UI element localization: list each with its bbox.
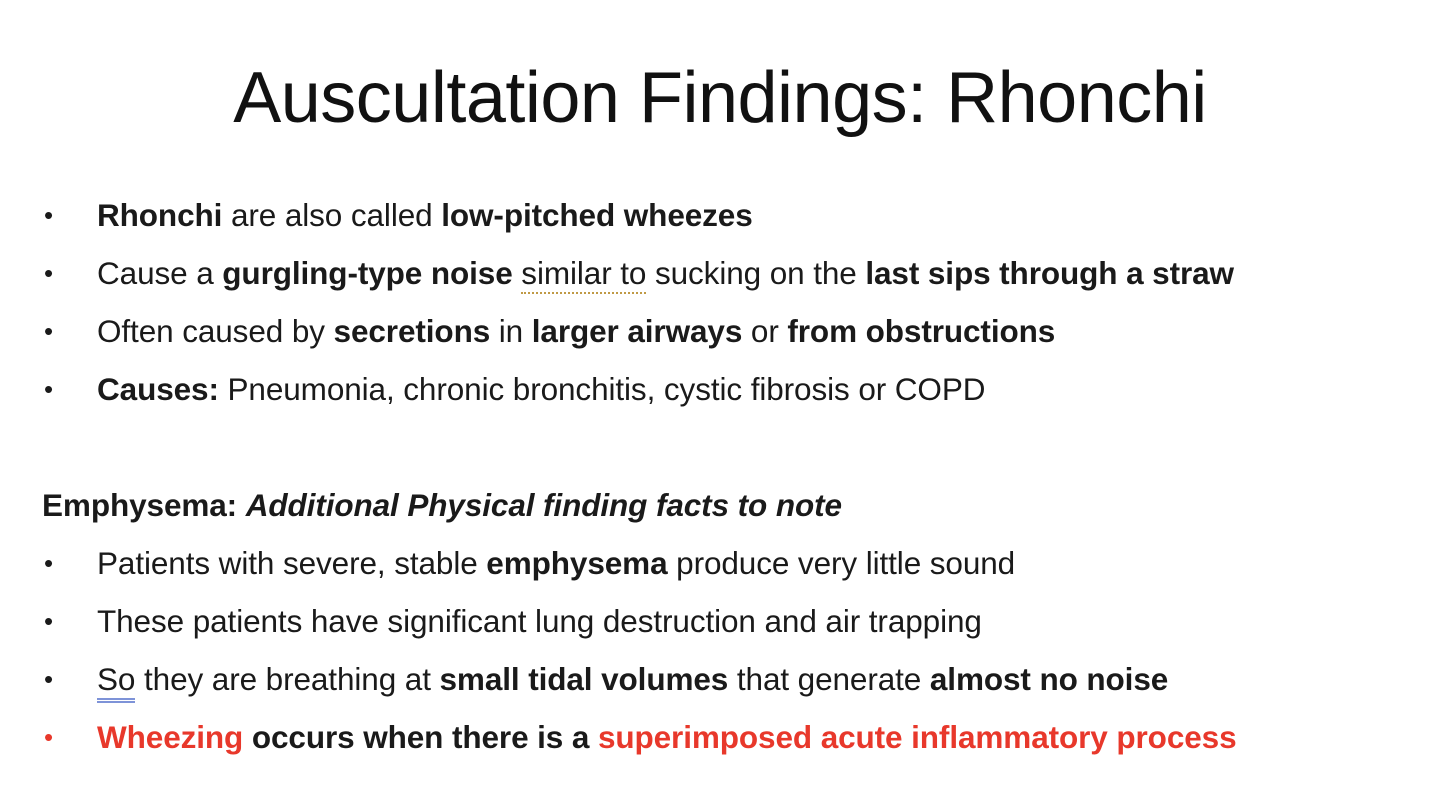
text-run: produce very little sound — [668, 545, 1016, 581]
bullet-marker: • — [44, 592, 58, 650]
slide-body: •Rhonchi are also called low-pitched whe… — [38, 186, 1418, 766]
text-run: gurgling-type noise — [222, 255, 512, 291]
slide-title: Auscultation Findings: Rhonchi — [0, 56, 1440, 141]
bullet-marker: • — [44, 302, 58, 360]
bullet-line: •These patients have significant lung de… — [38, 592, 1418, 650]
bullet-marker: • — [44, 244, 58, 302]
bullet-line: •Cause a gurgling-type noise similar to … — [38, 244, 1418, 302]
proofing-marked-text[interactable]: similar to — [521, 255, 646, 294]
bullet-marker: • — [44, 360, 58, 418]
bullet-line: •Causes: Pneumonia, chronic bronchitis, … — [38, 360, 1418, 418]
proofing-marked-text[interactable]: So — [97, 661, 135, 700]
blank-line — [38, 418, 1418, 476]
text-run: Causes: — [97, 371, 219, 407]
bullet-line: •Often caused by secretions in larger ai… — [38, 302, 1418, 360]
text-run: almost no noise — [930, 661, 1168, 697]
text-run: last sips through a straw — [865, 255, 1234, 291]
text-run: Additional Physical finding facts to not… — [246, 487, 842, 523]
bullet-marker: • — [44, 186, 58, 244]
bullet-line: •Rhonchi are also called low-pitched whe… — [38, 186, 1418, 244]
text-run: are also called — [222, 197, 441, 233]
text-run: sucking on the — [646, 255, 865, 291]
bullet-marker: • — [44, 650, 58, 708]
text-run: larger airways — [532, 313, 743, 349]
text-run: from obstructions — [787, 313, 1055, 349]
bullet-marker: • — [44, 708, 58, 766]
text-run: Often caused by — [97, 313, 334, 349]
text-run: Rhonchi — [97, 197, 222, 233]
text-run: occurs when there is a — [243, 719, 598, 755]
text-run: secretions — [334, 313, 491, 349]
bullet-line: •Patients with severe, stable emphysema … — [38, 534, 1418, 592]
text-run: emphysema — [486, 545, 667, 581]
slide-canvas: Auscultation Findings: Rhonchi •Rhonchi … — [0, 0, 1440, 800]
bullet-line: •So they are breathing at small tidal vo… — [38, 650, 1418, 708]
text-run: Patients with severe, stable — [97, 545, 486, 581]
bullet-marker: • — [44, 534, 58, 592]
text-run: low-pitched wheezes — [441, 197, 752, 233]
text-run: Pneumonia, chronic bronchitis, cystic fi… — [219, 371, 986, 407]
text-run: or — [742, 313, 787, 349]
text-run: that generate — [728, 661, 930, 697]
text-run: they are breathing at — [135, 661, 439, 697]
text-run — [513, 255, 522, 291]
section-heading: Emphysema: Additional Physical finding f… — [38, 476, 1418, 534]
text-run: in — [490, 313, 532, 349]
text-run: superimposed acute inflammatory process — [598, 719, 1237, 755]
text-run: Emphysema: — [42, 487, 246, 523]
text-run: Wheezing — [97, 719, 243, 755]
text-run: Cause a — [97, 255, 222, 291]
text-run: These patients have significant lung des… — [97, 603, 982, 639]
bullet-line: •Wheezing occurs when there is a superim… — [38, 708, 1418, 766]
text-run: small tidal volumes — [440, 661, 729, 697]
